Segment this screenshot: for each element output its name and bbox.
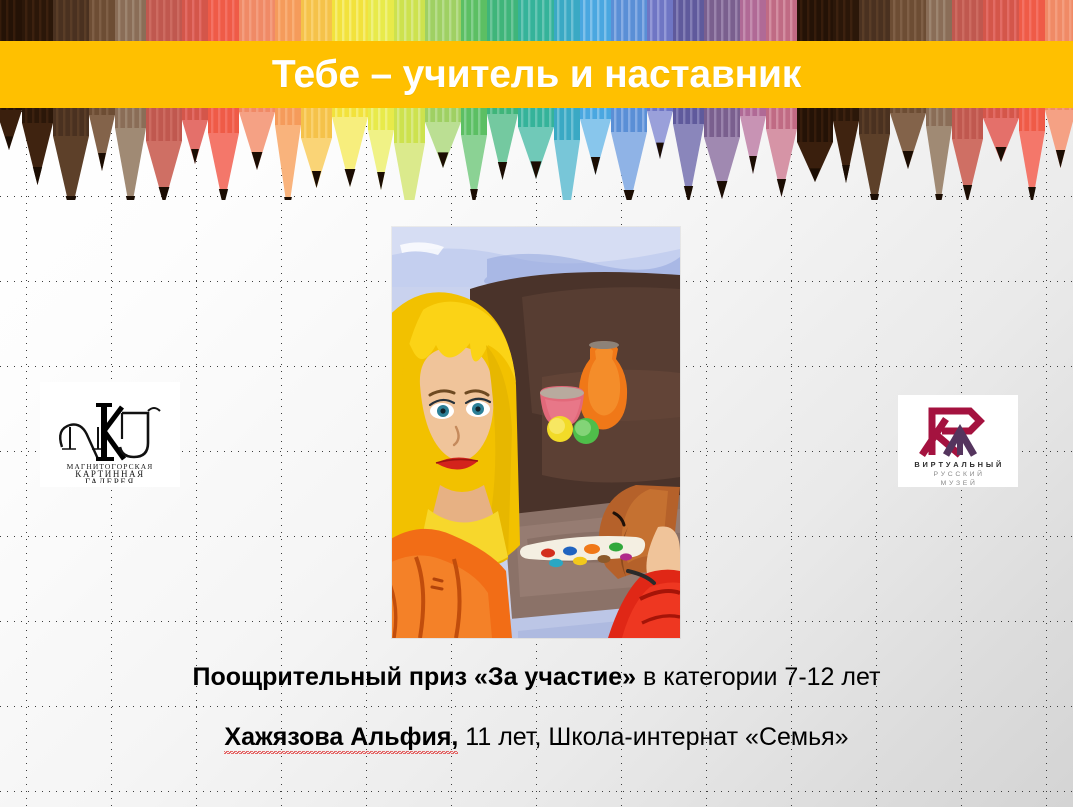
mkg-monogram-icon: МАГНИТОГОРСКАЯ КАРТИННАЯ ГАЛЕРЕЯ: [48, 387, 172, 483]
artwork-image: [392, 227, 680, 638]
grid-line-h: [0, 791, 1073, 792]
author-details: 11 лет, Школа-интернат «Семья»: [458, 723, 848, 751]
vrm-line3: М У З Е Й: [941, 478, 976, 485]
caption-line-1: Поощрительный приз «За участие» в катего…: [0, 660, 1073, 694]
caption-block: Поощрительный приз «За участие» в катего…: [0, 660, 1073, 754]
gallery-line3: ГАЛЕРЕЯ: [85, 477, 135, 483]
author-name: Хажязова Альфия,: [224, 723, 458, 754]
artwork-svg: [392, 227, 680, 638]
vrm-line2: Р У С С К И Й: [934, 469, 983, 478]
slide-canvas: Тебе – учитель и наставник: [0, 0, 1073, 807]
vrm-monogram-icon: В И Р Т У А Л Ь Н Ы Й Р У С С К И Й М У …: [902, 397, 1014, 485]
prize-label: Поощрительный приз «За участие»: [192, 663, 636, 691]
prize-category: в категории 7-12 лет: [636, 663, 880, 691]
vrm-line1: В И Р Т У А Л Ь Н Ы Й: [914, 460, 1001, 469]
virtual-russian-museum-logo: В И Р Т У А Л Ь Н Ы Й Р У С С К И Й М У …: [898, 395, 1018, 487]
magnitogorsk-gallery-logo: МАГНИТОГОРСКАЯ КАРТИННАЯ ГАЛЕРЕЯ: [40, 382, 180, 487]
caption-line-2: Хажязова Альфия, 11 лет, Школа-интернат …: [0, 720, 1073, 754]
page-title: Тебе – учитель и наставник: [0, 41, 1073, 108]
